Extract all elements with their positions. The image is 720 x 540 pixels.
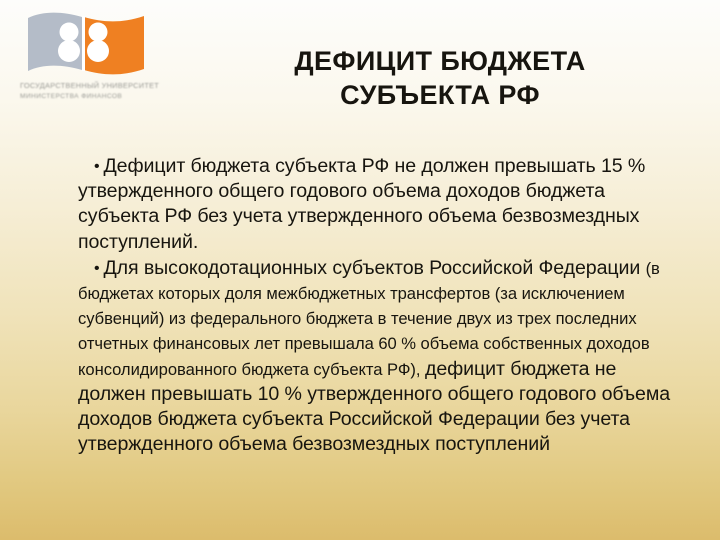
- slide-canvas: ГОСУДАРСТВЕННЫЙ УНИВЕРСИТЕТ МИНИСТЕРСТВА…: [0, 0, 720, 540]
- slide-title-line-1: ДЕФИЦИТ БЮДЖЕТА: [190, 44, 690, 78]
- logo-caption: ГОСУДАРСТВЕННЫЙ УНИВЕРСИТЕТ МИНИСТЕРСТВА…: [20, 80, 172, 106]
- logo-caption-line-1: ГОСУДАРСТВЕННЫЙ УНИВЕРСИТЕТ: [20, 80, 172, 91]
- slide-title: ДЕФИЦИТ БЮДЖЕТА СУБЪЕКТА РФ: [190, 44, 690, 112]
- paragraph-text: Дефицит бюджета субъекта РФ не должен пр…: [78, 155, 645, 253]
- paragraph-lead-text: Для высокодотационных субъектов Российск…: [104, 257, 646, 279]
- waving-flag-logo-icon: [22, 10, 150, 82]
- bullet-paragraph-deficit-limit-15: •Дефицит бюджета субъекта РФ не должен п…: [78, 154, 678, 255]
- slide-body: •Дефицит бюджета субъекта РФ не должен п…: [78, 154, 678, 457]
- slide-title-line-2: СУБЪЕКТА РФ: [190, 78, 690, 112]
- logo-block: ГОСУДАРСТВЕННЫЙ УНИВЕРСИТЕТ МИНИСТЕРСТВА…: [14, 6, 174, 114]
- bullet-glyph: •: [94, 260, 104, 277]
- logo-caption-line-2: МИНИСТЕРСТВА ФИНАНСОВ: [20, 91, 172, 102]
- bullet-paragraph-highly-subsidized-subjects: •Для высокодотационных субъектов Российс…: [78, 256, 678, 458]
- bullet-glyph: •: [94, 158, 104, 175]
